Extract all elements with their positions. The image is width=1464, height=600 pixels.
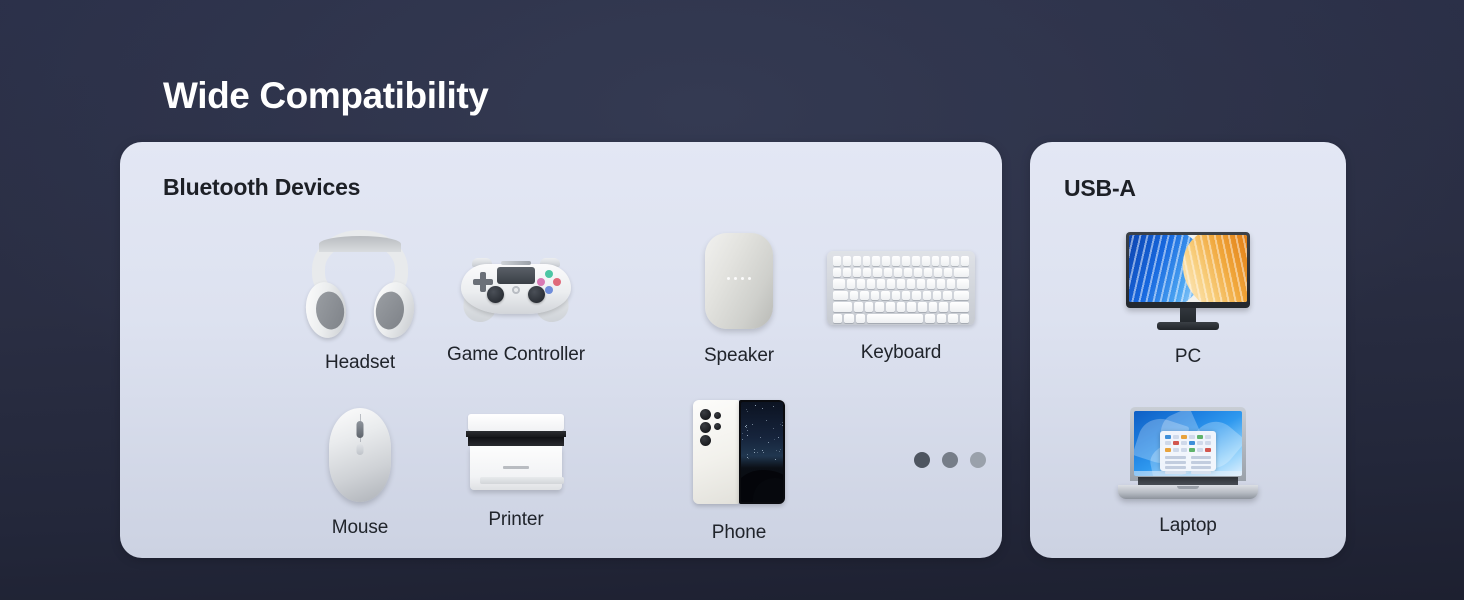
bluetooth-devices-card: Bluetooth Devices Headset — [120, 142, 1002, 558]
laptop-icon — [1118, 407, 1258, 499]
keyboard-icon — [827, 251, 975, 325]
speaker-icon — [705, 233, 773, 329]
compatibility-banner: Wide Compatibility Bluetooth Devices Hea… — [0, 0, 1464, 600]
device-tile-keyboard[interactable]: Keyboard — [806, 251, 996, 364]
card-title-usb-a: USB-A — [1064, 175, 1136, 202]
monitor-icon — [1126, 232, 1250, 332]
phone-icon — [693, 400, 785, 504]
device-label-laptop: Laptop — [1063, 515, 1313, 537]
game-controller-icon — [461, 256, 571, 322]
more-devices-indicator[interactable] — [855, 452, 1002, 468]
device-label-pc: PC — [1063, 346, 1313, 368]
mouse-icon — [329, 408, 391, 502]
device-label-phone: Phone — [644, 522, 834, 544]
device-label-keyboard: Keyboard — [806, 342, 996, 364]
three-dots-icon — [914, 452, 986, 468]
device-label-game-controller: Game Controller — [401, 344, 631, 366]
device-tile-phone[interactable]: Phone — [644, 400, 834, 544]
headset-icon — [308, 230, 412, 338]
device-tile-laptop[interactable]: Laptop — [1063, 407, 1313, 537]
card-title-bluetooth: Bluetooth Devices — [163, 174, 360, 201]
printer-icon — [464, 414, 568, 494]
page-title: Wide Compatibility — [163, 75, 488, 117]
device-tile-printer[interactable]: Printer — [401, 414, 631, 531]
device-label-printer: Printer — [401, 509, 631, 531]
device-tile-pc[interactable]: PC — [1063, 232, 1313, 368]
usb-a-card: USB-A PC — [1030, 142, 1346, 558]
device-tile-game-controller[interactable]: Game Controller — [401, 256, 631, 366]
